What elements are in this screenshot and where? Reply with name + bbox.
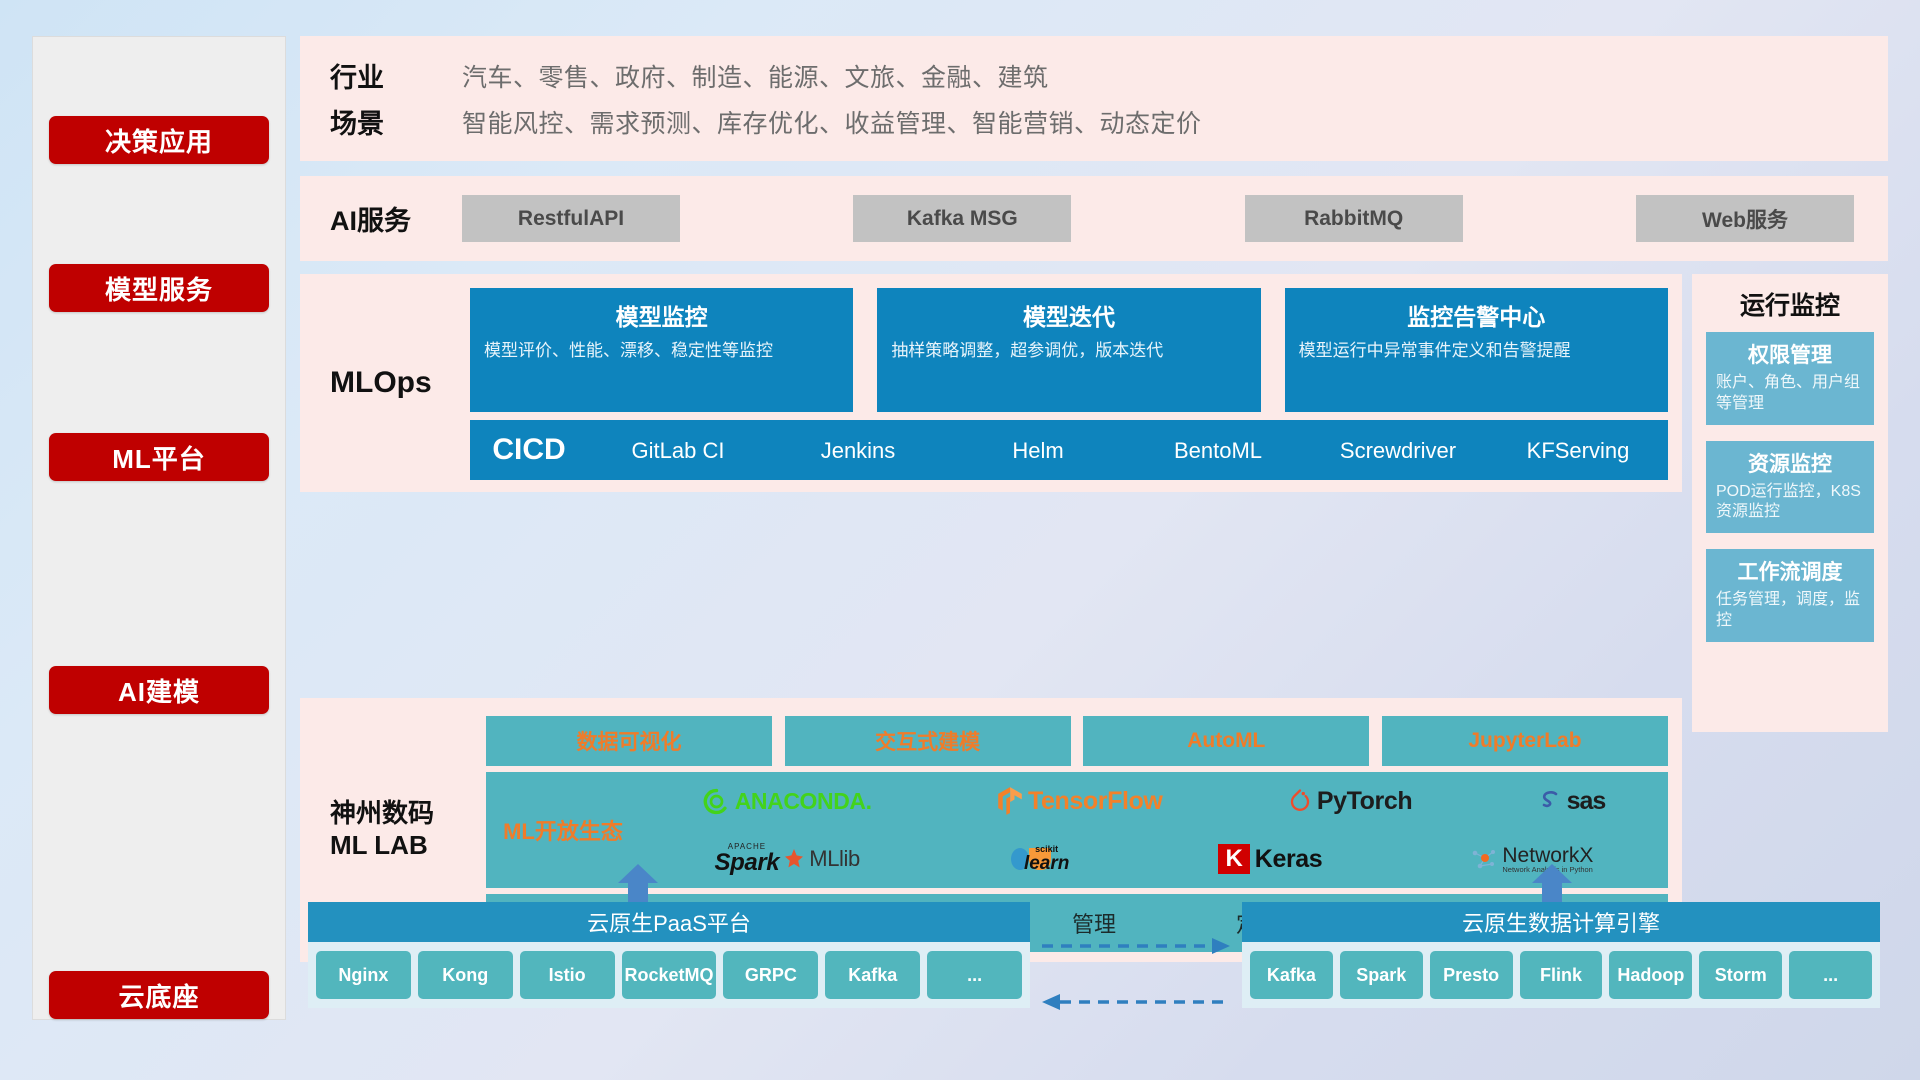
spark-label: Spark	[715, 851, 780, 875]
engine-chip-presto[interactable]: Presto	[1430, 951, 1513, 999]
ml-open-ecosystem-label: ML开放生态	[486, 814, 640, 846]
scikit-learn-logo: scikit learn	[1009, 845, 1069, 873]
arrow-up-paas-icon	[616, 864, 660, 904]
engine-chip-flink[interactable]: Flink	[1520, 951, 1603, 999]
monitor-card-desc: 任务管理，调度，监控	[1716, 590, 1864, 632]
learn-label: learn	[1024, 854, 1069, 873]
mlops-card-group: 模型监控 模型评价、性能、漂移、稳定性等监控 模型迭代 抽样策略调整，超参调优，…	[470, 288, 1668, 412]
monitor-card-workflow[interactable]: 工作流调度 任务管理，调度，监控	[1706, 549, 1874, 642]
anaconda-logo: ANACONDA.	[703, 788, 872, 815]
ml-lab-tab-group: 数据可视化 交互式建模 AutoML JupyterLab	[486, 716, 1668, 766]
stack-label-model-service[interactable]: 模型服务	[49, 264, 269, 312]
mlops-card-model-monitoring[interactable]: 模型监控 模型评价、性能、漂移、稳定性等监控	[470, 288, 853, 412]
industry-row: 行业 汽车、零售、政府、制造、能源、文旅、金融、建筑	[330, 53, 1888, 99]
ai-service-button-restfulapi[interactable]: RestfulAPI	[462, 195, 680, 242]
mlops-panel: MLOps 模型监控 模型评价、性能、漂移、稳定性等监控 模型迭代 抽样策略调整…	[300, 274, 1682, 492]
spark-star-icon	[784, 849, 804, 869]
monitor-card-title: 工作流调度	[1716, 556, 1864, 586]
cicd-title: CICD	[470, 433, 588, 467]
scenario-key: 场景	[330, 102, 462, 141]
ml-lab-tab-automl[interactable]: AutoML	[1083, 716, 1369, 766]
paas-chip-rocketmq[interactable]: RocketMQ	[622, 951, 717, 999]
engine-chip-storm[interactable]: Storm	[1699, 951, 1782, 999]
cloud-native-data-engine-title: 云原生数据计算引擎	[1242, 902, 1880, 942]
industry-scenario-panel: 行业 汽车、零售、政府、制造、能源、文旅、金融、建筑 场景 智能风控、需求预测、…	[300, 36, 1888, 161]
cloud-native-paas-chip-group: Nginx Kong Istio RocketMQ GRPC Kafka ...	[308, 942, 1030, 1008]
engine-chip-hadoop[interactable]: Hadoop	[1609, 951, 1692, 999]
runtime-monitor-panel: 运行监控 权限管理 账户、角色、用户组等管理 资源监控 POD运行监控，K8S资…	[1692, 274, 1888, 732]
networkx-label: NetworkX	[1502, 845, 1593, 866]
monitor-card-title: 资源监控	[1716, 448, 1864, 478]
cloud-native-paas-group: 云原生PaaS平台 Nginx Kong Istio RocketMQ GRPC…	[308, 902, 1030, 1008]
ecosystem-logo-row-1: ANACONDA. TensorFlow	[640, 772, 1668, 830]
architecture-diagram: 决策应用 模型服务 ML平台 AI建模 云底座 行业 汽车、零售、政府、制造、能…	[0, 0, 1920, 1080]
sas-label: sas	[1567, 787, 1606, 816]
paas-chip-nginx[interactable]: Nginx	[316, 951, 411, 999]
mlops-card-model-iteration[interactable]: 模型迭代 抽样策略调整，超参调优，版本迭代	[877, 288, 1260, 412]
cicd-item-screwdriver[interactable]: Screwdriver	[1308, 438, 1488, 462]
ai-service-button-group: RestfulAPI Kafka MSG RabbitMQ Web服务	[462, 195, 1888, 242]
mlops-card-title: 监控告警中心	[1299, 298, 1654, 332]
bidirectional-dashed-arrows-icon	[1036, 932, 1236, 1016]
ai-service-button-web[interactable]: Web服务	[1636, 195, 1854, 242]
mlops-card-title: 模型监控	[484, 298, 839, 332]
engine-chip-more[interactable]: ...	[1789, 951, 1872, 999]
ai-service-key: AI服务	[330, 199, 462, 238]
ml-lab-tab-data-visualization[interactable]: 数据可视化	[486, 716, 772, 766]
stack-label-decision-app[interactable]: 决策应用	[49, 116, 269, 164]
spark-mllib-logo: APACHE Spark MLlib	[715, 843, 860, 875]
cicd-bar: CICD GitLab CI Jenkins Helm BentoML Scre…	[470, 420, 1668, 480]
ecosystem-logo-grid: ANACONDA. TensorFlow	[640, 772, 1668, 888]
ml-platform-row: MLOps 模型监控 模型评价、性能、漂移、稳定性等监控 模型迭代 抽样策略调整…	[300, 274, 1888, 492]
cicd-item-helm[interactable]: Helm	[948, 438, 1128, 462]
industry-key: 行业	[330, 56, 462, 95]
anaconda-icon	[703, 788, 730, 815]
cloud-native-data-engine-group: 云原生数据计算引擎 Kafka Spark Presto Flink Hadoo…	[1242, 902, 1880, 1008]
ai-service-panel: AI服务 RestfulAPI Kafka MSG RabbitMQ Web服务	[300, 176, 1888, 261]
ml-open-ecosystem-panel: ML开放生态 ANACONDA.	[486, 772, 1668, 888]
pytorch-icon	[1288, 788, 1312, 815]
paas-chip-kong[interactable]: Kong	[418, 951, 513, 999]
monitor-card-desc: POD运行监控，K8S资源监控	[1716, 482, 1864, 524]
mlops-key: MLOps	[330, 274, 462, 492]
scenario-value: 智能风控、需求预测、库存优化、收益管理、智能营销、动态定价	[462, 104, 1202, 140]
mlops-card-desc: 抽样策略调整，超参调优，版本迭代	[891, 340, 1246, 362]
engine-chip-kafka[interactable]: Kafka	[1250, 951, 1333, 999]
mlops-card-desc: 模型运行中异常事件定义和告警提醒	[1299, 340, 1654, 362]
cloud-native-data-engine-chip-group: Kafka Spark Presto Flink Hadoop Storm ..…	[1242, 942, 1880, 1008]
ml-lab-key-line1: 神州数码	[330, 798, 434, 830]
mlops-card-alert-center[interactable]: 监控告警中心 模型运行中异常事件定义和告警提醒	[1285, 288, 1668, 412]
paas-chip-more[interactable]: ...	[927, 951, 1022, 999]
cicd-item-jenkins[interactable]: Jenkins	[768, 438, 948, 462]
mllib-label: MLlib	[809, 846, 860, 872]
sas-icon	[1538, 789, 1562, 813]
ml-lab-key-line2: ML LAB	[330, 830, 428, 862]
tensorflow-icon	[997, 786, 1023, 816]
mlops-card-title: 模型迭代	[891, 298, 1246, 332]
cicd-item-bentoml[interactable]: BentoML	[1128, 438, 1308, 462]
engine-chip-spark[interactable]: Spark	[1340, 951, 1423, 999]
industry-value: 汽车、零售、政府、制造、能源、文旅、金融、建筑	[462, 58, 1049, 94]
paas-chip-istio[interactable]: Istio	[520, 951, 615, 999]
tensorflow-logo: TensorFlow	[997, 786, 1162, 816]
monitor-card-title: 权限管理	[1716, 339, 1864, 369]
ai-service-button-kafka-msg[interactable]: Kafka MSG	[853, 195, 1071, 242]
mlops-card-desc: 模型评价、性能、漂移、稳定性等监控	[484, 340, 839, 362]
paas-chip-kafka[interactable]: Kafka	[825, 951, 920, 999]
monitor-card-desc: 账户、角色、用户组等管理	[1716, 373, 1864, 415]
keras-logo: K Keras	[1218, 844, 1322, 874]
cicd-item-gitlab-ci[interactable]: GitLab CI	[588, 438, 768, 462]
keras-k-icon: K	[1218, 844, 1249, 874]
anaconda-label: ANACONDA.	[735, 788, 872, 815]
cloud-native-paas-title: 云原生PaaS平台	[308, 902, 1030, 942]
paas-chip-grpc[interactable]: GRPC	[723, 951, 818, 999]
monitor-card-permission[interactable]: 权限管理 账户、角色、用户组等管理	[1706, 332, 1874, 425]
stack-label-ml-platform[interactable]: ML平台	[49, 433, 269, 481]
tensorflow-label: TensorFlow	[1028, 787, 1162, 816]
cloud-base-row: 云原生PaaS平台 Nginx Kong Istio RocketMQ GRPC…	[300, 880, 1888, 1030]
pytorch-label: PyTorch	[1317, 787, 1412, 816]
runtime-monitor-title: 运行监控	[1692, 274, 1888, 332]
stack-label-rail: 决策应用 模型服务 ML平台 AI建模 云底座	[32, 36, 286, 1020]
ml-lab-tab-interactive-modeling[interactable]: 交互式建模	[785, 716, 1071, 766]
cicd-item-group: GitLab CI Jenkins Helm BentoML Screwdriv…	[588, 438, 1668, 462]
stack-label-cloud-base[interactable]: 云底座	[49, 971, 269, 1019]
ml-lab-tab-jupyterlab[interactable]: JupyterLab	[1382, 716, 1668, 766]
pytorch-logo: PyTorch	[1288, 787, 1412, 816]
stack-label-ai-modeling[interactable]: AI建模	[49, 666, 269, 714]
ai-service-button-rabbitmq[interactable]: RabbitMQ	[1245, 195, 1463, 242]
scenario-row: 场景 智能风控、需求预测、库存优化、收益管理、智能营销、动态定价	[330, 99, 1888, 145]
arrow-up-data-engine-icon	[1530, 864, 1574, 904]
sas-logo: sas	[1538, 787, 1606, 816]
cicd-item-kfserving[interactable]: KFServing	[1488, 438, 1668, 462]
monitor-card-resource[interactable]: 资源监控 POD运行监控，K8S资源监控	[1706, 441, 1874, 534]
keras-label: Keras	[1255, 845, 1323, 874]
networkx-icon	[1471, 847, 1497, 871]
